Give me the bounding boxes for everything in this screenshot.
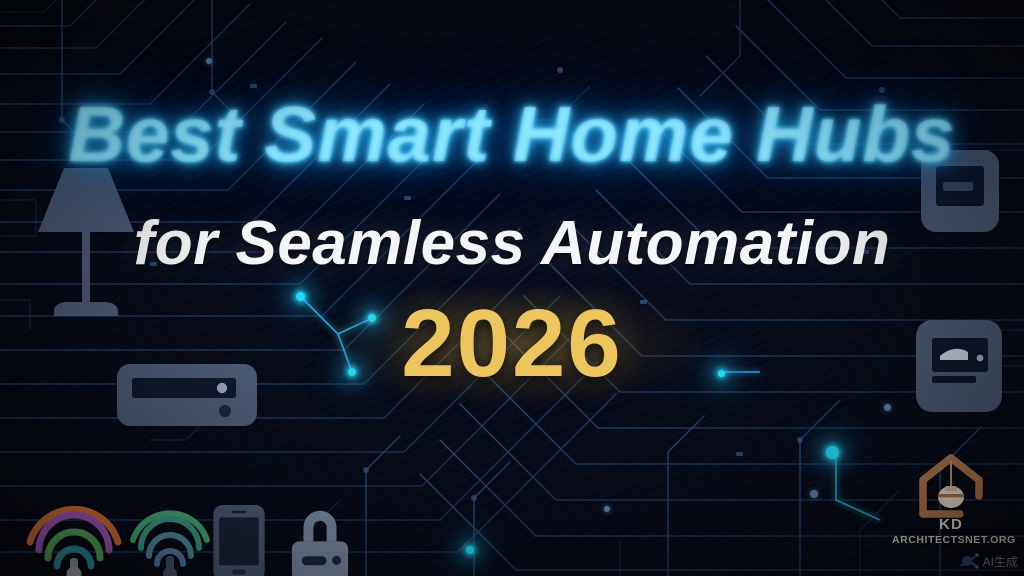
circuit-node-glow — [368, 314, 376, 322]
circuit-node-glow — [466, 546, 474, 554]
circuit-node-glow — [718, 370, 725, 377]
circuit-node-glow — [296, 292, 305, 301]
circuit-node-dim — [810, 490, 818, 498]
ai-watermark-text: AI生成 — [983, 553, 1018, 570]
ai-node-watermark-icon — [958, 550, 980, 572]
smart-hub-router-icon — [117, 364, 257, 426]
table-lamp-icon — [30, 160, 142, 320]
logo-brand-text: KD — [892, 516, 1010, 533]
circuit-node-dim — [604, 506, 610, 512]
house-pendant-lamp-icon — [912, 452, 990, 518]
circuit-node-dim — [206, 58, 212, 64]
logo-url-text: ARCHITECTSNET.ORG — [892, 534, 1010, 546]
smart-thermostat-icon — [921, 150, 999, 232]
smart-display-panel-icon — [916, 320, 1002, 412]
circuit-node-dim — [884, 404, 891, 411]
wifi-signal-rainbow-icon — [22, 498, 126, 576]
circuit-node-glow — [348, 368, 356, 376]
circuit-node-glow — [826, 446, 839, 459]
smartphone-icon — [208, 505, 270, 576]
circuit-board-background — [0, 0, 1024, 576]
poster-canvas: Best Smart Home Hubs for Seamless Automa… — [0, 0, 1024, 576]
ai-watermark: AI生成 — [958, 550, 1018, 572]
brand-logo[interactable]: KD ARCHITECTSNET.ORG — [892, 452, 1010, 546]
padlock-icon — [284, 505, 356, 576]
wifi-signal-green-icon — [127, 502, 213, 576]
